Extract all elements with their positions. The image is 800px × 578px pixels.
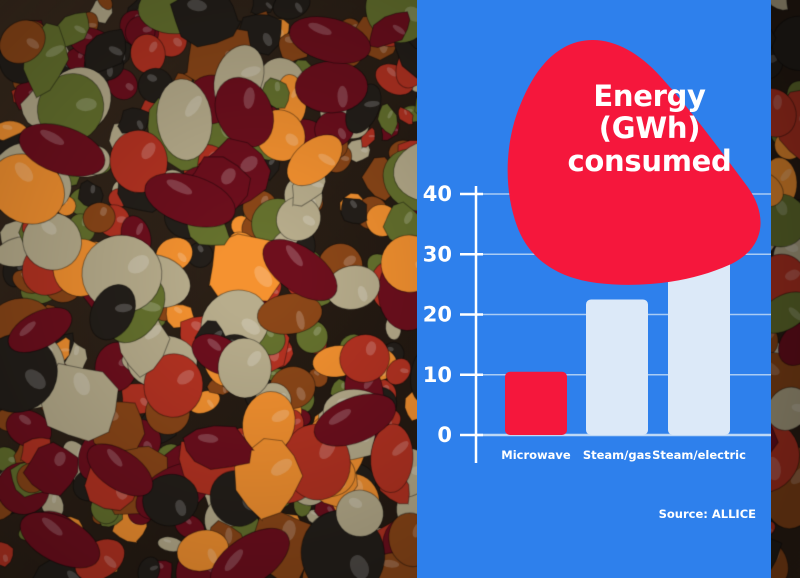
infographic-root: 010203040MicrowaveSteam/gasSteam/electri… [0, 0, 800, 578]
y-axis-label-40: 40 [423, 182, 452, 206]
bar-steam-gas[interactable] [586, 299, 648, 435]
x-axis-label-2: Steam/electric [652, 448, 746, 462]
y-axis-label-10: 10 [423, 363, 452, 387]
source-note: Source: ALLICE [659, 507, 757, 521]
x-axis-label-0: Microwave [501, 448, 571, 462]
bar-steam-electric[interactable] [668, 233, 730, 435]
x-axis-label-1: Steam/gas [583, 448, 652, 462]
chart-svg: 010203040MicrowaveSteam/gasSteam/electri… [417, 0, 771, 578]
y-axis-label-20: 20 [423, 303, 452, 327]
y-axis-label-0: 0 [437, 423, 452, 447]
y-axis-label-30: 30 [423, 242, 452, 266]
bar-microwave[interactable] [505, 372, 567, 435]
bar-chart: 010203040MicrowaveSteam/gasSteam/electri… [417, 0, 771, 578]
